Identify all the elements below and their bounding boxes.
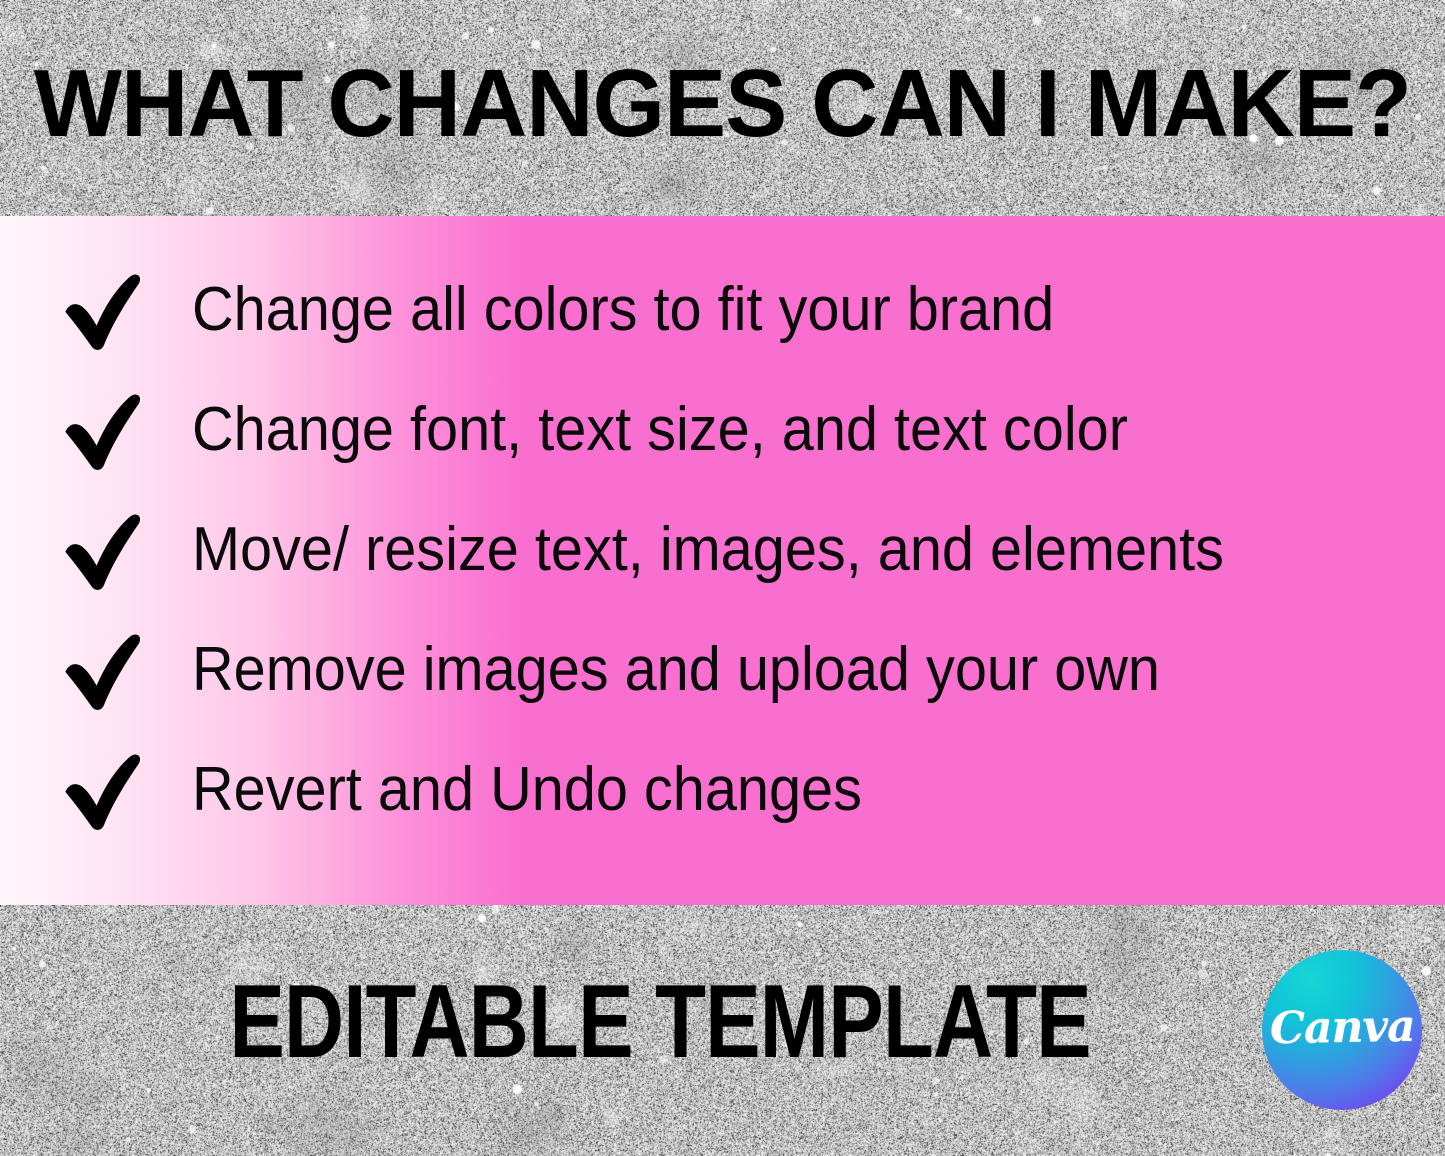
- list-item-label: Revert and Undo changes: [192, 757, 862, 823]
- list-item-label: Change all colors to fit your brand: [192, 277, 1054, 343]
- checkmark-icon: [58, 264, 150, 356]
- list-item-label: Change font, text size, and text color: [192, 397, 1128, 463]
- checkmark-icon: [58, 744, 150, 836]
- checkmark-icon: [58, 504, 150, 596]
- canva-logo: Canva: [1262, 950, 1422, 1110]
- poster-root: WHAT CHANGES CAN I MAKE? Change all colo…: [0, 0, 1445, 1156]
- checklist: Change all colors to fit your brand Chan…: [0, 250, 1445, 850]
- checkmark-icon: [58, 624, 150, 716]
- list-item: Revert and Undo changes: [0, 730, 1445, 850]
- footer-title: EDITABLE TEMPLATE: [82, 968, 1238, 1076]
- list-item: Change all colors to fit your brand: [0, 250, 1445, 370]
- page-title: WHAT CHANGES CAN I MAKE?: [22, 54, 1424, 154]
- list-item: Change font, text size, and text color: [0, 370, 1445, 490]
- list-item: Remove images and upload your own: [0, 610, 1445, 730]
- canva-wordmark: Canva: [1269, 1005, 1414, 1052]
- list-item: Move/ resize text, images, and elements: [0, 490, 1445, 610]
- list-item-label: Move/ resize text, images, and elements: [192, 517, 1224, 583]
- list-item-label: Remove images and upload your own: [192, 637, 1160, 703]
- checkmark-icon: [58, 384, 150, 476]
